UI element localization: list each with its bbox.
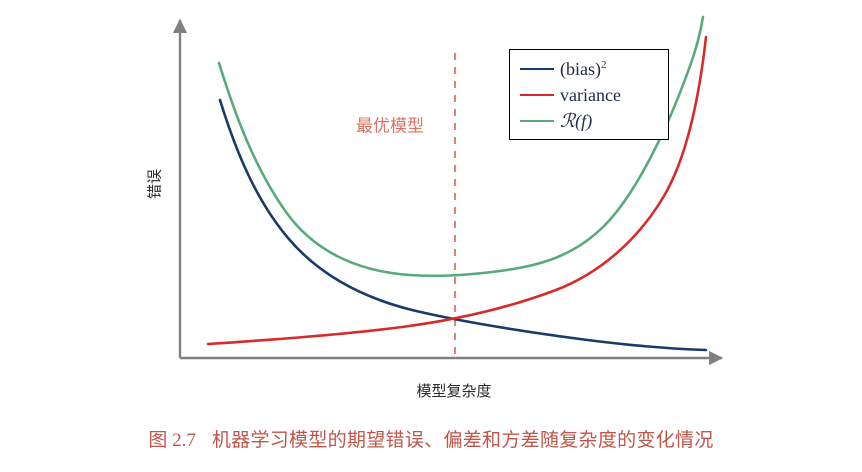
legend-swatch-variance-icon <box>520 94 554 96</box>
chart-legend: (bias)2 variance ℛ(f) <box>509 49 669 140</box>
legend-swatch-bias-squared-icon <box>520 68 554 70</box>
legend-item-bias-squared: (bias)2 <box>510 56 668 82</box>
chart-canvas <box>0 0 862 400</box>
figure-caption: 图 2.7机器学习模型的期望错误、偏差和方差随复杂度的变化情况 <box>148 425 713 452</box>
caption-text: 机器学习模型的期望错误、偏差和方差随复杂度的变化情况 <box>212 430 714 451</box>
legend-label-bias-squared: (bias)2 <box>560 60 606 78</box>
optimal-model-annotation: 最优模型 <box>356 112 424 137</box>
figure-container: 错误 模型复杂度 最优模型 (bias)2 variance ℛ(f) 图 2.… <box>0 0 862 472</box>
legend-swatch-expected-risk-icon <box>520 120 554 122</box>
x-axis-label: 模型复杂度 <box>416 380 491 401</box>
y-axis-label: 错误 <box>144 169 165 199</box>
legend-item-expected-risk: ℛ(f) <box>510 108 668 134</box>
legend-item-variance: variance <box>510 82 668 108</box>
caption-number: 图 2.7 <box>148 430 196 451</box>
legend-label-variance: variance <box>560 86 621 104</box>
legend-label-expected-risk: ℛ(f) <box>560 112 592 131</box>
